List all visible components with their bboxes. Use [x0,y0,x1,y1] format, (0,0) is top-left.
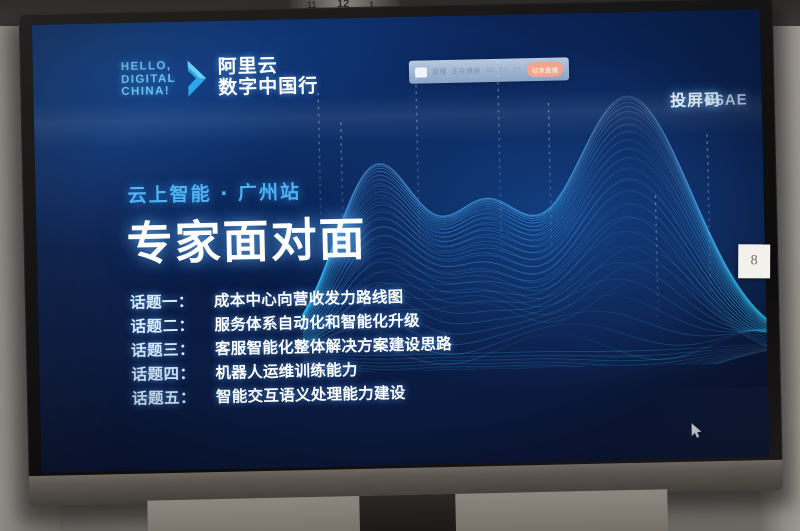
topic-value: 机器人运维训练能力 [215,358,358,383]
topic-value: 服务体系自动化和智能化升级 [214,309,420,335]
topic-key: 话题一： [130,289,206,313]
event-logo: HELLO, DIGITAL CHINA! 阿里云 数字中国行 [121,55,319,101]
screen-cast-icon [415,67,427,77]
logo-english-text: HELLO, DIGITAL CHINA! [121,60,177,99]
display-screen[interactable]: HELLO, DIGITAL CHINA! 阿里云 数字中国行 [32,9,770,473]
live-session-label: 正在录屏 [451,66,480,77]
topic-key: 话题三： [131,337,207,361]
logo-chinese-text: 阿里云 数字中国行 [218,55,319,99]
live-status-label: 直播 [432,66,447,76]
display-stand-neck [359,494,456,531]
live-elapsed-time: 00:54:13 [486,66,521,75]
topic-key: 话题四： [131,361,207,385]
topic-value: 客服智能化整体解决方案建设思路 [215,332,452,359]
topic-value: 智能交互语义处理能力建设 [216,381,406,407]
wall-display: HELLO, DIGITAL CHINA! 阿里云 数字中国行 [19,0,784,514]
topic-value: 成本中心向营收发力路线图 [214,285,404,311]
logo-cn-line-2: 数字中国行 [218,76,318,99]
live-broadcast-toolbar[interactable]: 直播 正在录屏 00:54:13 结束直播 [409,57,569,83]
slide-title: 专家面对面 [126,214,367,269]
topic-list: 话题一： 成本中心向营收发力路线图 话题二： 服务体系自动化和智能化升级 话题三… [130,284,454,411]
list-item: 话题五： 智能交互语义处理能力建设 [132,380,453,409]
topic-key: 话题五： [132,385,208,409]
screen-reflection [548,387,769,462]
cast-code-value: 66AE [706,91,748,109]
wall-note-card: 8 [738,244,770,278]
photo-scene: 11 12 1 [0,0,800,531]
chevron-right-icon [186,59,209,97]
end-broadcast-button[interactable]: 结束直播 [527,61,563,77]
cast-code-display: 投屏码 66AE [670,85,748,111]
logo-en-line-3: CHINA! [121,85,176,99]
presentation-slide: HELLO, DIGITAL CHINA! 阿里云 数字中国行 [32,9,770,473]
topic-key: 话题二： [130,313,206,337]
mouse-pointer-icon [691,422,702,438]
logo-en-line-1: HELLO, [121,60,176,74]
slide-subtitle: 云上智能 · 广州站 [127,177,301,208]
